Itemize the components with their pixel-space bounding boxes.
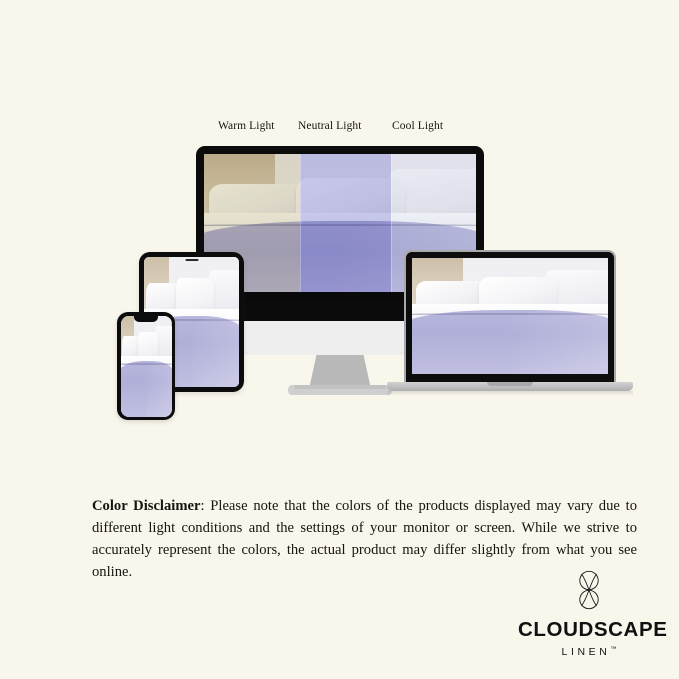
- trademark-symbol: ™: [610, 647, 616, 653]
- tone-divider-neutral-cool: [391, 154, 392, 302]
- laptop-lid: [404, 250, 616, 382]
- photo-duvet-highlight: [510, 310, 608, 374]
- brand-logo: CLOUDSCAPE LINEN™: [518, 568, 660, 660]
- tone-divider-warm-neutral: [300, 154, 301, 302]
- disclaimer-separator: :: [200, 498, 210, 514]
- monitor-stand-neck: [309, 355, 371, 389]
- brand-subtitle: LINEN™: [562, 646, 617, 658]
- tone-overlay-neutral: [300, 154, 391, 302]
- bedding-product-photo-phone: [121, 316, 172, 417]
- brand-wordmark: CLOUDSCAPE: [518, 618, 660, 642]
- bedding-product-photo-laptop: [412, 258, 608, 374]
- disclaimer-heading: Color Disclaimer: [92, 498, 200, 514]
- monitor-stand-foot: [288, 385, 392, 395]
- laptop-trackpad-notch: [487, 382, 533, 386]
- band-label-warm: Warm Light: [218, 120, 275, 132]
- tablet-camera-icon: [185, 259, 198, 261]
- band-label-cool: Cool Light: [392, 120, 443, 132]
- laptop-screen: [412, 258, 608, 374]
- infinity-loop-icon: [574, 568, 604, 612]
- band-label-neutral: Neutral Light: [298, 120, 362, 132]
- laptop: [404, 250, 616, 382]
- laptop-shadow: [387, 391, 633, 396]
- phone-notch: [134, 316, 158, 322]
- photo-duvet-highlight: [146, 361, 172, 417]
- photo-duvet-highlight: [192, 316, 240, 388]
- phone-screen: [121, 316, 172, 417]
- smartphone: [117, 312, 175, 420]
- product-color-disclaimer-page: Warm Light Neutral Light Cool Light: [0, 0, 679, 679]
- lighting-band-labels: Warm Light Neutral Light Cool Light: [0, 120, 679, 140]
- brand-subtitle-text: LINEN: [562, 646, 611, 658]
